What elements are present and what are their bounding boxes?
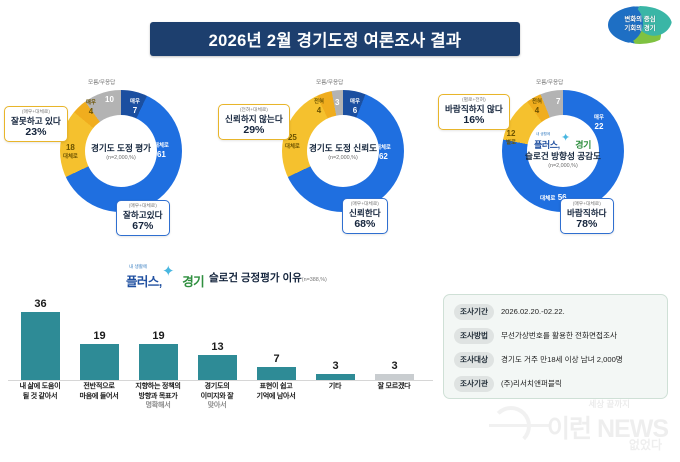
watermark-bar-shape: [489, 424, 549, 427]
watermark-bottom-text: 없었다: [629, 436, 662, 453]
plus-gyeonggi-slogan-icon-bar: 내 생활에 ✦ 플러스, 경기: [126, 264, 204, 286]
donut3-seg-별로-negative: 12 별로: [506, 130, 516, 147]
bar-label-0: 내 삶에 도움이 될 것 같아서: [9, 382, 71, 401]
bar-value-0: 36: [12, 298, 69, 310]
info-row-target: 조사대상 경기도 거주 만18세 이상 남녀 2,000명: [454, 351, 623, 368]
bar-chart-plot-area: 36 19 19 13 7 3 3: [8, 292, 433, 380]
donut2-callout-positive: (매우+대체로) 신뢰한다 68%: [342, 198, 388, 234]
star-icon-donut: ✦: [561, 131, 570, 144]
bar-column-0: 36: [12, 298, 69, 380]
donut-center-1: 경기도 도정 평가 (n=2,000,%): [85, 115, 157, 187]
bar-rect-1: [80, 344, 119, 380]
bar-chart-axis-line: [8, 380, 433, 381]
bar-rect-4: [257, 367, 296, 380]
donut-center-title-1: 경기도 도정 평가: [91, 142, 151, 154]
info-key-method: 조사방법: [454, 328, 494, 344]
bar-value-5: 3: [307, 360, 364, 372]
donut2-seg-매우-positive: 매우 6: [350, 98, 360, 115]
bar-column-1: 19: [71, 330, 128, 380]
donut-center-title-3: 슬로건 방향성 공감도: [525, 150, 601, 162]
donut3-outside-label: 모름/무응답: [536, 78, 563, 86]
bar-label-6: 잘 모르겠다: [363, 382, 425, 392]
bar-value-6: 3: [366, 360, 423, 372]
bar-label-4: 표현이 쉽고 기억에 남아서: [245, 382, 307, 401]
info-row-period: 조사기간 2026.02.20.-02.22.: [454, 303, 565, 320]
donut1-callout-negative: (매우+대체로) 잘못하고 있다 23%: [4, 106, 68, 142]
info-key-target: 조사대상: [454, 352, 494, 368]
bar-value-3: 13: [189, 341, 246, 353]
donut-center-2: 경기도 도정 신뢰도 (n=2,000,%): [307, 115, 379, 187]
plus-gyeonggi-slogan-icon-donut: 내 생활에 ✦ 플러스, 경기: [534, 133, 592, 149]
donut1-outside-label: 모름/무응답: [88, 78, 115, 86]
slogan-small-text-bar: 내 생활에: [129, 264, 147, 270]
donut1-seg-모름무응답: 10: [105, 96, 114, 105]
page-title-text: 2026년 2월 경기도정 여론조사 결과: [209, 27, 462, 51]
slogan-right-donut: 경기: [575, 138, 591, 151]
watermark-logo-icon: [491, 406, 531, 446]
watermark-top-text: 세상 끝까지: [589, 398, 630, 410]
donut2-seg-모름무응답: 3: [335, 99, 339, 108]
news-watermark: 세상 끝까지 이런 NEWS 없었다: [489, 398, 674, 460]
donut-ring-wrapper-3: 내 생활에 ✦ 플러스, 경기 슬로건 방향성 공감도 (n=2,000,%) …: [502, 90, 624, 212]
survey-info-panel: 조사기간 2026.02.20.-02.22. 조사방법 무선가상번호를 활용한…: [443, 294, 668, 399]
donut3-callout-positive: (매우+대체로) 바람직하다 78%: [560, 198, 614, 234]
donut2-outside-label: 모름/무응답: [316, 78, 343, 86]
bar-chart-title-text: 슬로건 긍정평가 이유: [209, 272, 302, 284]
bar-chart-sample: (n=388,%): [302, 277, 327, 283]
donut-ring-wrapper-1: 경기도 도정 평가 (n=2,000,%) 매우 7 대체로 61 18 대체로…: [60, 90, 182, 212]
donut1-seg-매우-negative: 매우 4: [86, 99, 96, 116]
info-value-method: 무선가상번호를 활용한 전화면접조사: [501, 330, 617, 341]
donut1-callout-positive: (매우+대체로) 잘하고있다 67%: [116, 200, 170, 236]
donut-center-title-2: 경기도 도정 신뢰도: [309, 142, 377, 154]
bar-rect-3: [198, 355, 237, 380]
info-value-period: 2026.02.20.-02.22.: [501, 307, 565, 316]
donut-chart-dojeong-pyeongga: 경기도 도정 평가 (n=2,000,%) 매우 7 대체로 61 18 대체로…: [8, 72, 234, 252]
donut2-seg-전혀-negative: 전혀 4: [314, 98, 324, 115]
bar-label-1: 전반적으로 마음에 들어서: [68, 382, 130, 401]
bar-label-5: 기타: [304, 382, 366, 392]
bar-column-5: 3: [307, 360, 364, 380]
bar-value-1: 19: [71, 330, 128, 342]
donut-center-sample-2: (n=2,000,%): [328, 155, 358, 161]
donut1-seg-대체로-positive: 대체로 61: [154, 142, 169, 159]
donut3-seg-모름무응답: 7: [556, 98, 560, 107]
bar-value-2: 19: [130, 330, 187, 342]
bar-column-4: 7: [248, 353, 305, 380]
slogan-left-donut: 플러스,: [534, 138, 560, 151]
gyeonggi-brand-logo-icon: 변화의 중심 기회의 경기: [608, 6, 672, 46]
donut1-seg-매우-positive: 매우 7: [130, 98, 140, 115]
brand-logo-text: 변화의 중심 기회의 경기: [608, 15, 672, 33]
donut-chart-slogan-banghyangseong: 내 생활에 ✦ 플러스, 경기 슬로건 방향성 공감도 (n=2,000,%) …: [450, 72, 676, 252]
page-header: 2026년 2월 경기도정 여론조사 결과 변화의 중심 기회의 경기: [0, 0, 680, 70]
info-key-agency: 조사기관: [454, 376, 494, 392]
slogan-left-bar: 플러스,: [126, 271, 162, 290]
donut1-seg-대체로-negative: 18 대체로: [63, 144, 78, 161]
bar-label-2: 지향하는 정책의 방향과 목표가 명확해서: [127, 382, 189, 411]
donut2-seg-대체로-positive: 대체로 62: [376, 144, 391, 161]
bar-value-4: 7: [248, 353, 305, 365]
brand-logo-line2: 기회의 경기: [608, 24, 672, 33]
info-value-agency: (주)리서치앤퍼블릭: [501, 378, 562, 389]
donut-charts-row: 경기도 도정 평가 (n=2,000,%) 매우 7 대체로 61 18 대체로…: [0, 72, 680, 252]
star-icon-bar: ✦: [162, 262, 175, 280]
watermark-mid-text: 이런 NEWS: [547, 409, 668, 445]
info-row-agency: 조사기관 (주)리서치앤퍼블릭: [454, 375, 562, 392]
bar-label-3: 경기도의 이미지와 잘 맞아서: [186, 382, 248, 411]
bar-column-2: 19: [130, 330, 187, 380]
donut2-callout-negative: (전혀+대체로) 신뢰하지 않는다 29%: [218, 104, 290, 140]
bar-rect-2: [139, 344, 178, 380]
donut-center-3: 내 생활에 ✦ 플러스, 경기 슬로건 방향성 공감도 (n=2,000,%): [527, 115, 599, 187]
donut-center-sample-3: (n=2,000,%): [548, 163, 578, 169]
donut-center-sample-1: (n=2,000,%): [106, 155, 136, 161]
slogan-small-text-donut: 내 생활에: [536, 132, 550, 137]
donut3-seg-전혀-negative: 전혀 4: [532, 98, 542, 115]
donut3-seg-매우-positive: 매우 22: [594, 114, 604, 131]
info-value-target: 경기도 거주 만18세 이상 남녀 2,000명: [501, 354, 623, 365]
page-title: 2026년 2월 경기도정 여론조사 결과: [150, 22, 520, 56]
bar-chart-title: 슬로건 긍정평가 이유(n=388,%): [209, 270, 327, 286]
donut3-callout-negative: (별로+전혀) 바람직하지 않다 16%: [438, 94, 510, 130]
donut-chart-dojeong-sinroedo: 경기도 도정 신뢰도 (n=2,000,%) 매우 6 대체로 62 25 대체…: [230, 72, 456, 252]
info-row-method: 조사방법 무선가상번호를 활용한 전화면접조사: [454, 327, 617, 344]
bar-column-6: 3: [366, 360, 423, 380]
donut-ring-wrapper-2: 경기도 도정 신뢰도 (n=2,000,%) 매우 6 대체로 62 25 대체…: [282, 90, 404, 212]
bar-chart-section: 내 생활에 ✦ 플러스, 경기 슬로건 긍정평가 이유(n=388,%) 36 …: [8, 262, 433, 412]
bar-chart-header: 내 생활에 ✦ 플러스, 경기 슬로건 긍정평가 이유(n=388,%): [126, 264, 327, 286]
bar-column-3: 13: [189, 341, 246, 380]
slogan-right-bar: 경기: [182, 271, 204, 290]
brand-logo-line1: 변화의 중심: [608, 15, 672, 24]
bar-rect-0: [21, 312, 60, 380]
info-key-period: 조사기간: [454, 304, 494, 320]
